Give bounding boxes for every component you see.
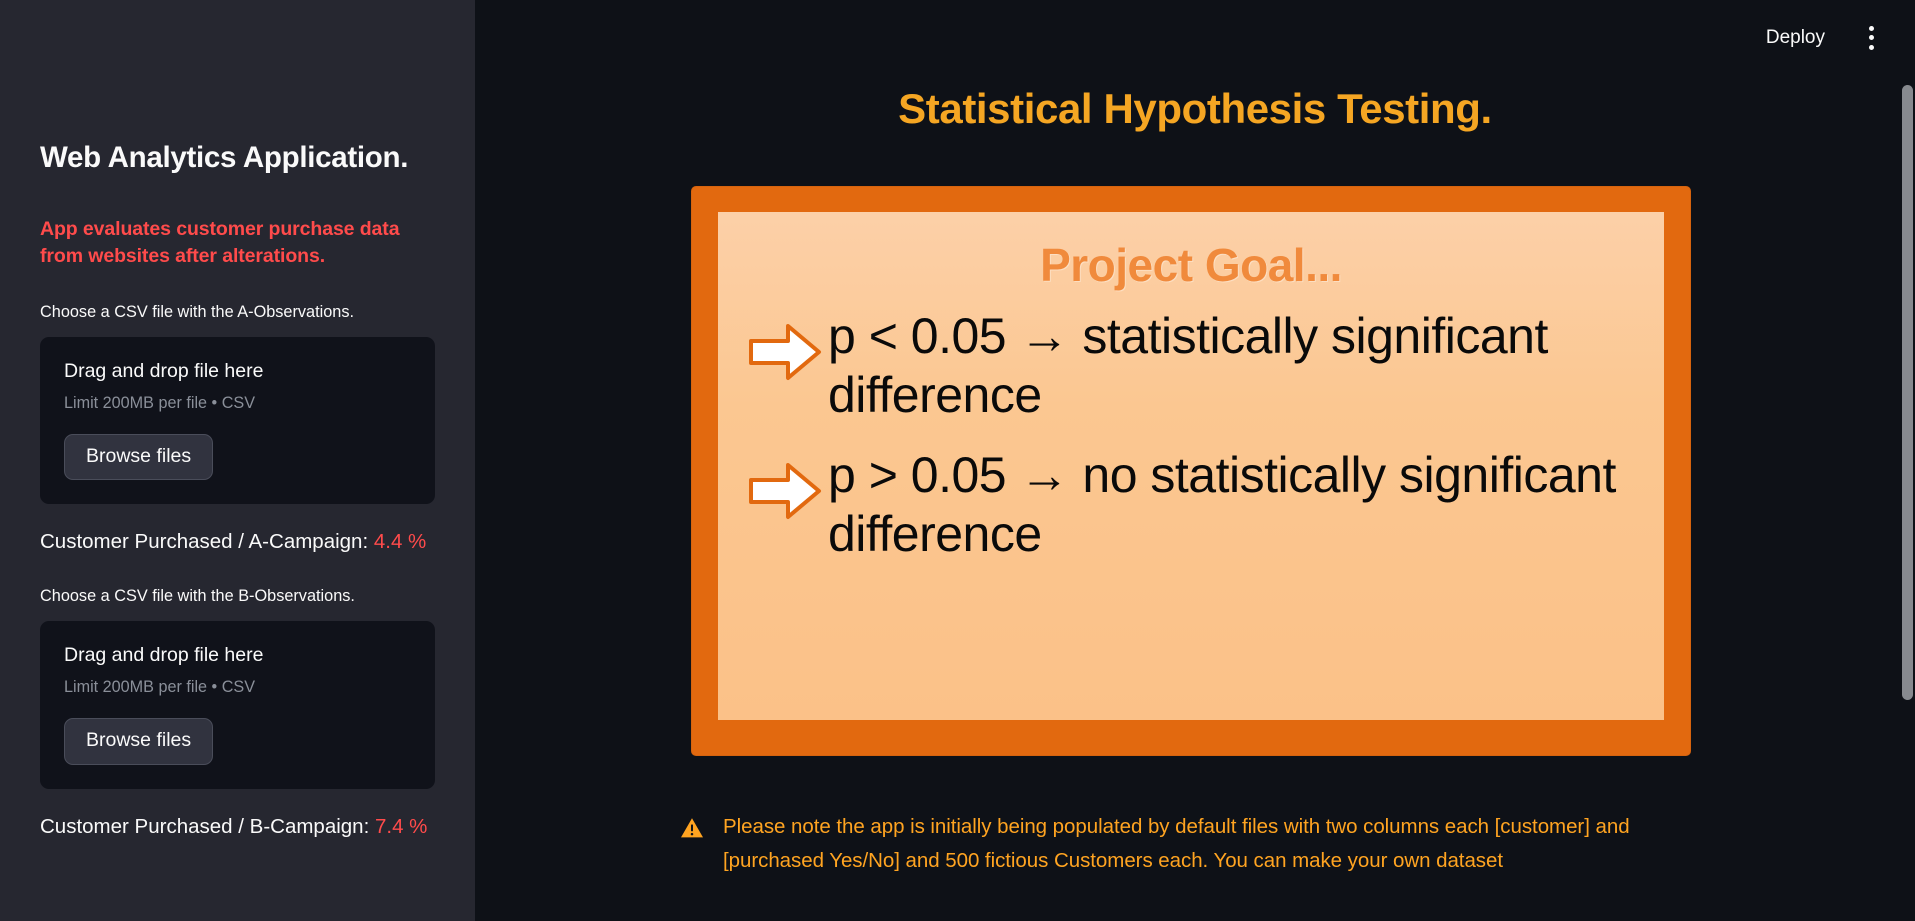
result-a-campaign: Customer Purchased / A-Campaign: 4.4 % [40,530,435,554]
kebab-dot-1 [1869,26,1874,31]
project-goal-image: Project Goal... p < 0.05 → statistically… [691,186,1691,756]
deploy-button[interactable]: Deploy [1756,22,1835,53]
warning-triangle-icon [680,816,704,840]
vertical-scrollbar-thumb[interactable] [1902,85,1913,700]
dropzone-b-limit: Limit 200MB per file • CSV [64,677,411,698]
warning-callout: Please note the app is initially being p… [680,810,1690,879]
result-b-label: Customer Purchased / B-Campaign: [40,815,369,838]
goal-statement-1-text: p < 0.05 → statistically significant dif… [828,307,1634,424]
app-title: Web Analytics Application. [40,140,435,175]
uploader-b-label: Choose a CSV file with the B-Observation… [40,584,435,608]
dropzone-a-limit: Limit 200MB per file • CSV [64,393,411,414]
dropzone-b-text: Drag and drop file here [64,643,411,668]
browse-files-a-button[interactable]: Browse files [64,434,213,480]
goal-statement-2: p > 0.05 → no statistically significant … [748,446,1634,563]
warning-text: Please note the app is initially being p… [723,810,1690,879]
file-uploader-a[interactable]: Drag and drop file here Limit 200MB per … [40,337,435,505]
kebab-dot-2 [1869,35,1874,40]
top-toolbar: Deploy [1756,0,1885,75]
goal-statement-1: p < 0.05 → statistically significant dif… [748,307,1634,424]
uploader-a-label: Choose a CSV file with the A-Observation… [40,300,435,324]
dropzone-a-text: Drag and drop file here [64,359,411,384]
result-a-label: Customer Purchased / A-Campaign: [40,530,368,553]
page-title: Statistical Hypothesis Testing. [475,84,1915,134]
result-b-campaign: Customer Purchased / B-Campaign: 7.4 % [40,815,435,839]
streamlit-app: Web Analytics Application. App evaluates… [0,0,1915,921]
kebab-menu-icon[interactable] [1857,21,1885,55]
result-a-value: 4.4 % [374,530,426,553]
goal-statement-2-text: p > 0.05 → no statistically significant … [828,446,1634,563]
right-arrow-block-icon [748,321,822,383]
kebab-dot-3 [1869,45,1874,50]
right-arrow-block-icon [748,460,822,522]
result-b-value: 7.4 % [375,815,427,838]
browse-files-b-button[interactable]: Browse files [64,718,213,764]
vertical-scrollbar-track[interactable] [1900,0,1915,921]
project-goal-image-inner: Project Goal... p < 0.05 → statistically… [718,212,1664,720]
project-goal-heading: Project Goal... [748,238,1634,293]
main-content: Deploy Statistical Hypothesis Testing. P… [475,0,1915,921]
file-uploader-b[interactable]: Drag and drop file here Limit 200MB per … [40,621,435,789]
app-subtitle: App evaluates customer purchase data fro… [40,216,435,270]
sidebar: Web Analytics Application. App evaluates… [0,0,475,921]
